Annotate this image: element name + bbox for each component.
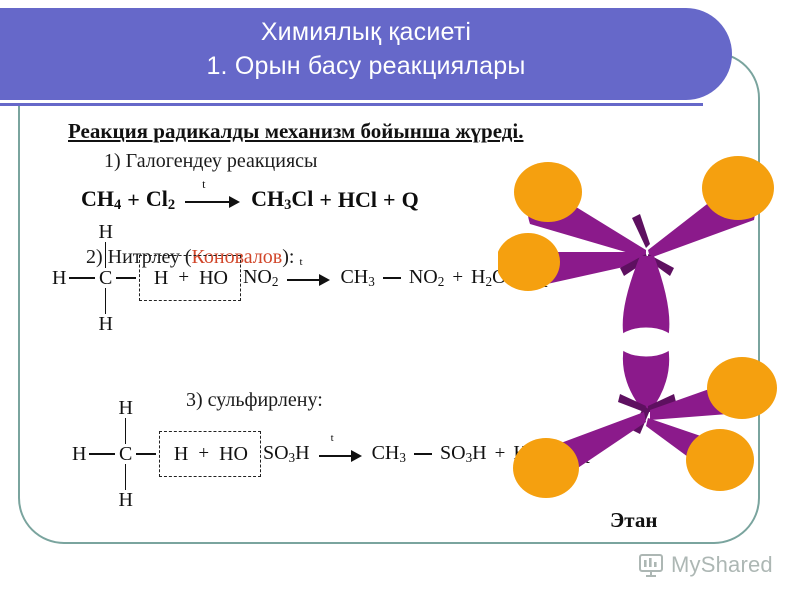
eq1-plus-3: + (383, 187, 396, 213)
sulfonation-product-methyl: CH3 (372, 443, 406, 464)
eq1-plus-1: + (127, 187, 140, 213)
sulfonation-carbon: C (119, 444, 132, 464)
arrow-shaft (287, 279, 321, 281)
hydrogen-sphere-3 (702, 156, 774, 220)
nitration-carbon: C (99, 268, 112, 288)
slide-title-line-2: 1. Орын басу реакциялары (0, 49, 732, 83)
eq1-reactant-chlorine: Cl2 (146, 186, 175, 214)
hydrogen-sphere-1 (514, 162, 582, 222)
arrow-head (351, 450, 362, 462)
ethane-orbital-diagram (498, 140, 788, 512)
nitration-top-hydrogen: H (98, 222, 112, 242)
nitration-boxed-hydroxyl: HO (199, 268, 228, 288)
nitration-product-methyl: CH3 (340, 267, 374, 288)
arrow-head (229, 196, 240, 208)
nitration-row: H H C H H + HO NO2 t (52, 264, 550, 292)
sulfonation-boxed-hydroxyl: HO (219, 444, 248, 464)
bond-down (105, 288, 107, 314)
bond-left (69, 277, 95, 279)
nitration-arrow-condition-label: t (299, 256, 302, 268)
bond-down (125, 464, 127, 490)
eq1-product-chloromethane: CH3Cl (251, 186, 313, 214)
bond-right (116, 277, 136, 279)
sigma-overlap-region (618, 328, 674, 356)
halogenation-equation: CH4 + Cl2 t CH3Cl + HCl + Q (78, 186, 422, 214)
sulfonation-product-sulfonic: SO3H (440, 443, 487, 464)
nitration-leaving-group-box: H + HO (139, 255, 241, 301)
nitration-structural-formula: H H C H H + HO NO2 t (52, 264, 550, 292)
bond-right (136, 453, 156, 455)
eq1-reaction-arrow: t (185, 190, 241, 210)
nitration-carbon-column: H C H (98, 222, 112, 334)
slide-title-line-1: Химиялық қасиеті (0, 15, 732, 49)
eq1-reactant-methane: CH4 (81, 186, 121, 214)
ethane-orbital-svg (498, 140, 788, 512)
section-1-label: 1) Галогендеу реакциясы (104, 150, 317, 173)
nitration-reagent-nitro: NO2 (243, 267, 278, 288)
hydrogen-sphere-4 (513, 438, 579, 498)
sulfonation-carbon-column: H C H (118, 398, 132, 510)
eq1-product-heat: Q (402, 187, 419, 213)
eq1-product-hcl: HCl (338, 187, 377, 213)
page-heading: Реакция радикалды механизм бойынша жүред… (68, 119, 523, 144)
nitration-reaction-arrow: t (287, 268, 331, 288)
hydrogen-sphere-2 (498, 233, 560, 291)
nitration-boxed-hydrogen: H (154, 268, 168, 288)
arrow-shaft (319, 455, 353, 457)
hydrogen-sphere-5 (707, 357, 777, 419)
sulfonation-left-hydrogen: H (72, 444, 86, 464)
product-bond (414, 453, 432, 455)
sulfonation-arrow-condition-label: t (331, 432, 334, 444)
arrow-head (319, 274, 330, 286)
sulfonation-top-hydrogen: H (118, 398, 132, 418)
slide-canvas: Химиялық қасиеті 1. Орын басу реакциялар… (0, 0, 800, 600)
sulfonation-reagent-sulfonic: SO3H (263, 443, 310, 464)
nitration-product-nitro: NO2 (409, 267, 444, 288)
eq1-arrow-condition-label: t (202, 177, 205, 192)
sulfonation-leaving-group-box: H + HO (159, 431, 261, 477)
bond-left (89, 453, 115, 455)
myshared-watermark: MyShared (638, 552, 773, 578)
nitration-bottom-hydrogen: H (98, 314, 112, 334)
hydrogen-sphere-6 (686, 429, 754, 491)
arrow-shaft (185, 201, 231, 203)
title-banner-underline (0, 100, 703, 106)
carbon-carbon-sigma-bond (618, 256, 674, 412)
nitration-left-hydrogen: H (52, 268, 66, 288)
product-bond (383, 277, 401, 279)
nitration-plus-water: + (452, 267, 463, 289)
sulfonation-boxed-hydrogen: H (174, 444, 188, 464)
lobe-tail-up (632, 214, 650, 248)
ethane-caption: Этан (610, 508, 657, 533)
sulfonation-bottom-hydrogen: H (118, 490, 132, 510)
nitration-box-plus: + (178, 267, 189, 289)
section-3-label: 3) сульфирлену: (186, 389, 323, 412)
sulfonation-box-plus: + (198, 443, 209, 465)
slide-title-banner: Химиялық қасиеті 1. Орын басу реакциялар… (0, 8, 732, 100)
sulfonation-reaction-arrow: t (319, 444, 363, 464)
presentation-board-icon (638, 552, 664, 578)
bond-up (125, 418, 127, 444)
bond-up (105, 242, 107, 268)
watermark-text: MyShared (671, 552, 773, 578)
eq1-plus-2: + (319, 187, 332, 213)
